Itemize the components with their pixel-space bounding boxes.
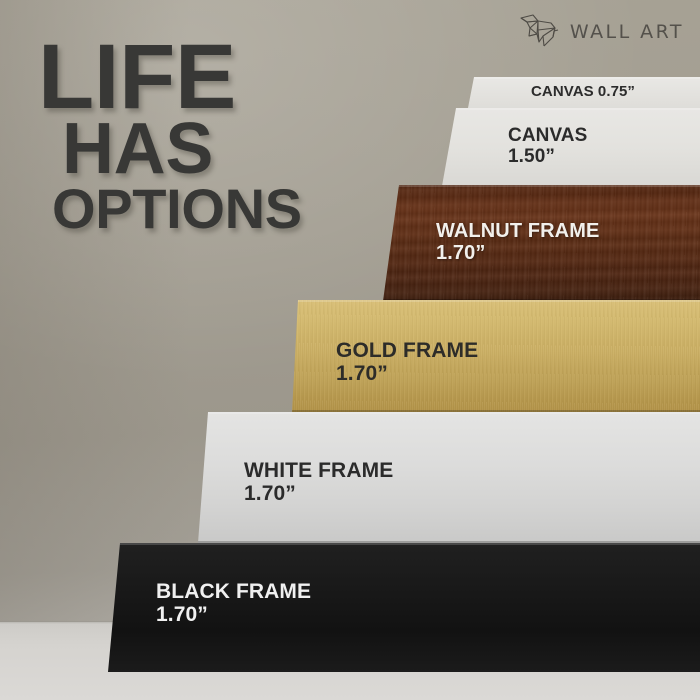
headline-line-1: LIFE (38, 38, 378, 117)
canvas-075-top-bevel (455, 77, 700, 79)
black-top-bevel (106, 543, 700, 545)
origami-goat-icon (517, 12, 561, 52)
product-label-walnut-frame: WALNUT FRAME 1.70” (436, 221, 599, 264)
headline-line-3: OPTIONS (52, 185, 378, 233)
canvas-150-top-bevel (430, 108, 700, 110)
product-slab-gold-frame[interactable]: GOLD FRAME 1.70” (288, 300, 700, 412)
brand-logo[interactable]: WALL ART (517, 12, 684, 52)
product-slab-canvas-075[interactable]: CANVAS 0.75” (455, 77, 700, 113)
white-bottom-edge (196, 541, 700, 543)
white-top-bevel (196, 412, 700, 414)
product-label-gold-frame: GOLD FRAME 1.70” (336, 340, 478, 385)
page-title: LIFE HAS OPTIONS (38, 38, 378, 233)
brand-name: WALL ART (570, 21, 684, 43)
product-label-canvas-150: CANVAS 1.50” (508, 126, 587, 167)
product-label-black-frame: BLACK FRAME 1.70” (156, 581, 311, 626)
gold-top-bevel (288, 300, 700, 302)
product-slab-canvas-150[interactable]: CANVAS 1.50” (430, 108, 700, 186)
product-options-poster: LIFE HAS OPTIONS WALL ART (0, 0, 700, 700)
product-slab-walnut-frame[interactable]: WALNUT FRAME 1.70” (375, 185, 700, 301)
gold-bottom-edge (288, 410, 700, 412)
walnut-top-bevel (375, 185, 700, 187)
product-label-white-frame: WHITE FRAME 1.70” (244, 460, 393, 505)
product-slab-black-frame[interactable]: BLACK FRAME 1.70” (106, 543, 700, 672)
product-slab-white-frame[interactable]: WHITE FRAME 1.70” (196, 412, 700, 543)
headline-line-2: HAS (62, 119, 378, 181)
product-label-canvas-075: CANVAS 0.75” (531, 84, 635, 100)
